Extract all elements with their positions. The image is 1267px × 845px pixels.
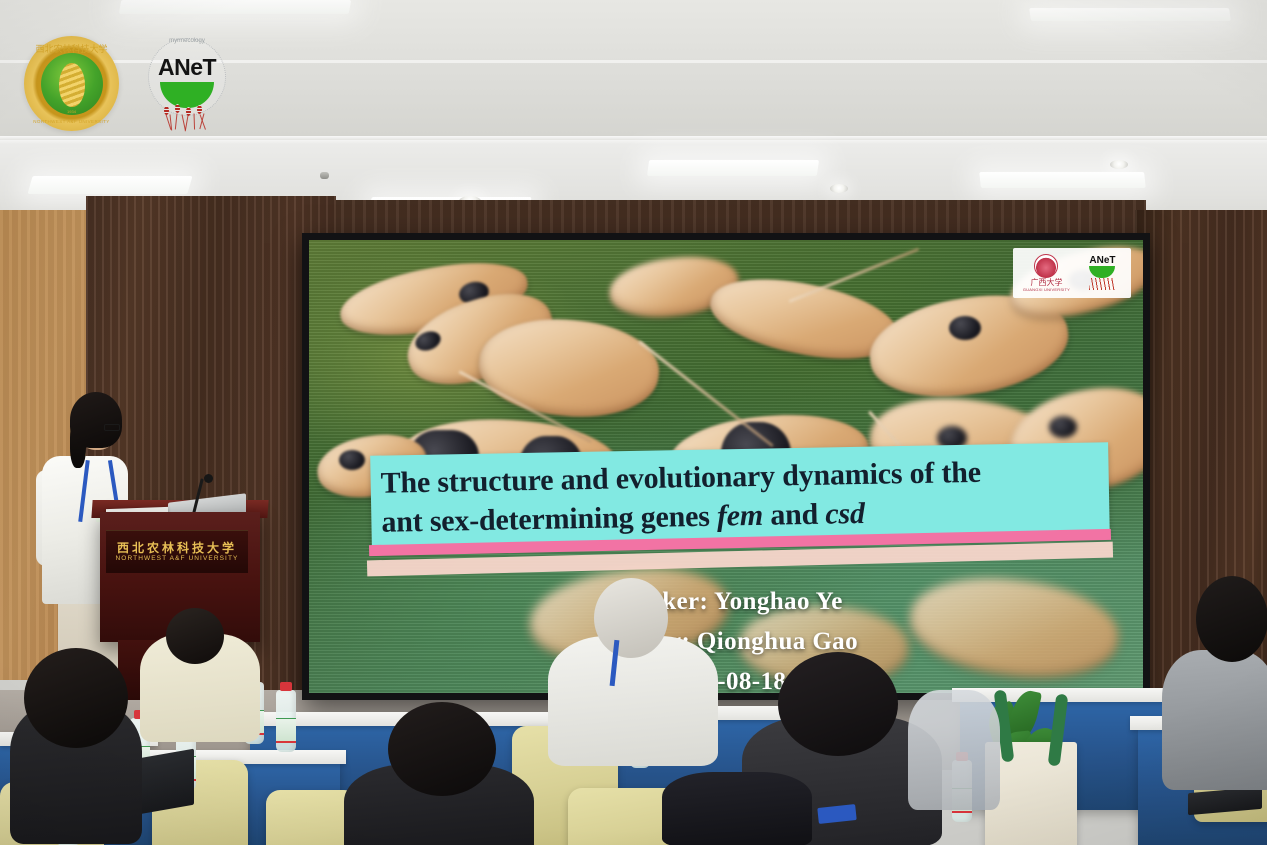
led-presentation-screen: 广西大学 GUANGXI UNIVERSITY ANeT The structu…: [302, 233, 1150, 700]
audience-person-torso: [1162, 650, 1267, 790]
audience-person-head: [1196, 576, 1267, 662]
podium-en-text: NORTHWEST A&F UNIVERSITY: [116, 555, 239, 562]
ceiling-downlight: [830, 184, 848, 193]
ant-eye: [949, 316, 981, 340]
slide-surface: 广西大学 GUANGXI UNIVERSITY ANeT The structu…: [309, 240, 1143, 693]
anet-logo-small: ANeT: [1079, 256, 1126, 290]
anet-small-legs-icon: [1089, 278, 1115, 290]
podium-university-plate: 西北农林科技大学 NORTHWEST A&F UNIVERSITY: [106, 530, 248, 573]
wheat-icon: [59, 63, 85, 107]
slide-title-line1: The structure and evolutionary dynamics …: [380, 456, 981, 500]
anet-logo-arc-text: myrmecology: [148, 38, 226, 44]
anet-small-wordmark: ANeT: [1089, 256, 1115, 266]
audience-person-head: [166, 608, 224, 664]
ceiling-light-panel: [27, 176, 192, 194]
anet-logo-ant-figures: [158, 104, 216, 148]
nwafu-logo-en-text: NORTHWEST A&F UNIVERSITY: [24, 119, 119, 124]
gxu-emblem-icon: [1034, 254, 1058, 278]
audience-person-torso: [908, 690, 1000, 810]
ant-eye: [1049, 416, 1077, 438]
microphone-icon: [204, 474, 213, 483]
sprinkler-head: [320, 172, 329, 179]
slide-speaker-line: Speaker: Yonghao Ye: [309, 588, 1143, 616]
gxu-cn-text: 广西大学: [1030, 279, 1062, 287]
ceiling-light-panel: [979, 172, 1146, 188]
nwafu-logo-inner-disc: [41, 53, 103, 115]
podium-cn-text: 西北农林科技大学: [117, 542, 237, 554]
conference-presentation-photo: 西北农林科技大学 1934 NORTHWEST A&F UNIVERSITY m…: [0, 0, 1267, 845]
audience-person-head: [778, 652, 898, 756]
ant-eye: [339, 450, 365, 470]
glasses-icon: [104, 424, 120, 431]
ceiling-light-panel: [119, 0, 351, 14]
ceiling-light-panel: [1029, 8, 1231, 21]
water-bottle: [276, 690, 296, 752]
anet-logo-wordmark: ANeT: [148, 56, 226, 79]
anet-logo: myrmecology ANeT: [148, 38, 226, 148]
ceiling-light-panel: [647, 160, 819, 176]
slide-title-line2-pre: ant sex-determining genes: [381, 500, 717, 539]
gene-name-csd: csd: [825, 497, 865, 531]
speaker-hair: [70, 392, 122, 448]
gxu-en-text: GUANGXI UNIVERSITY: [1023, 287, 1070, 292]
slide-title-line2-mid: and: [763, 498, 826, 532]
audience-person-head: [388, 702, 496, 796]
northwest-af-university-logo: 西北农林科技大学 1934 NORTHWEST A&F UNIVERSITY: [24, 36, 119, 131]
guangxi-university-logo: 广西大学 GUANGXI UNIVERSITY: [1018, 254, 1075, 292]
slide-corner-logos: 广西大学 GUANGXI UNIVERSITY ANeT: [1013, 248, 1131, 298]
audience-person-torso: [662, 772, 812, 845]
audience-person-head: [24, 648, 128, 748]
slide-advisor-line: Advisor: Qionghua Gao: [309, 628, 1143, 656]
anet-small-dome-icon: [1089, 266, 1115, 278]
nwafu-logo-year: 1934: [24, 109, 119, 114]
audience-person-head: [594, 578, 668, 658]
ceiling-downlight: [1110, 160, 1128, 169]
gene-name-fem: fem: [717, 499, 764, 533]
